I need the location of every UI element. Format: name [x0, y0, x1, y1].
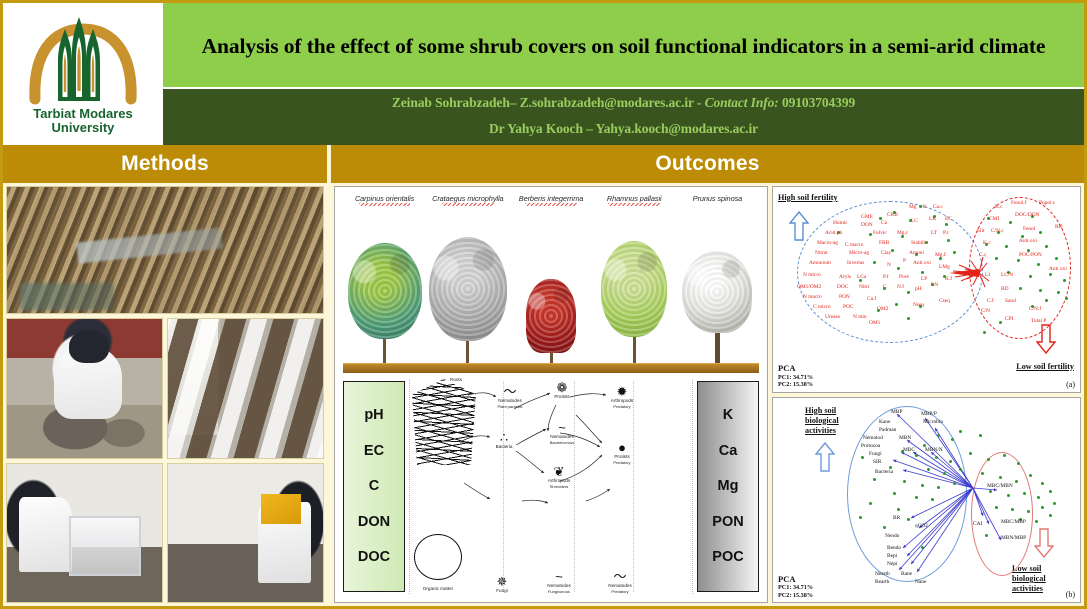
down-arrow-icon — [1034, 528, 1054, 558]
indicator-poc: POC — [712, 550, 743, 565]
author-line-supervisor: Dr Yahya Kooch – Yahya.kooch@modares.ac.… — [489, 121, 758, 137]
pca-b-lbl-fungi: Fungi — [869, 452, 882, 457]
pca-a-lbl-amoni: Amoni — [909, 251, 924, 256]
pca-a-lbl-antioxi2: Anti oxi — [1019, 239, 1037, 244]
shrub-illustration-2 — [509, 213, 592, 363]
nematode-plant-parasitic-icon: 〜 — [484, 385, 536, 398]
page-title: Analysis of the effect of some shrub cov… — [202, 32, 1046, 60]
left-indicator-box-wrap: pH EC C DON DOC — [343, 377, 405, 596]
pca-a-lbl-kc: K.c — [995, 205, 1003, 210]
soil-chemistry-indicator-box: pH EC C DON DOC — [343, 381, 405, 592]
pca-a-lbl-mg: Mg — [909, 205, 917, 210]
pca-a-lbl-lc: LC — [911, 219, 918, 224]
arthropod-shredder-icon: ❦ — [532, 465, 586, 478]
pca-a-lbl-antioxi: Anti oxi — [913, 261, 931, 266]
pca-a-lbl-amonium: Amonium — [809, 261, 831, 266]
species-label-0: Carpinus orientalis — [343, 194, 426, 206]
pca-a-lbl-kc2: K.c — [983, 241, 991, 246]
shrub-trunk-2 — [550, 353, 553, 363]
field-litter-photo — [6, 186, 324, 314]
organic-matter-icon — [414, 534, 462, 580]
pca-a-lbl-mgc: Mg.c — [897, 231, 908, 236]
pca-a-lbl-microag: Micro-ag — [849, 251, 869, 256]
shrub-crown-1 — [429, 237, 507, 341]
pca-a-lbl-nmacro: N macro — [803, 295, 822, 300]
pca-soil-fertility-panel: High soil fertility Low soil fertility — [772, 186, 1081, 393]
pca-a-lbl-nmin: N min — [853, 315, 867, 320]
pca-b-lbl-mbc: MBC — [903, 448, 915, 453]
fw-name-2: Arthropods — [611, 398, 633, 403]
fw-sub-0: Plant parasitic — [484, 404, 536, 409]
pca-a-lbl-invertas: Invertas — [847, 261, 864, 266]
up-arrow-icon — [789, 211, 809, 241]
pca-a-lbl-don: DON — [861, 223, 873, 228]
pca-b-lbl-mbn: MBN — [899, 436, 911, 441]
species-label-1: Crataegus microphylla — [426, 194, 509, 206]
shrub-illustration-0 — [343, 213, 426, 363]
food-web-label-8: Nematodes Fungivorous — [534, 583, 584, 594]
fungi-icon: ✵ — [480, 575, 524, 588]
contact-info-label: Contact Info: — [705, 95, 779, 110]
pca-a-lbl-silt: Silt — [977, 229, 985, 234]
outcomes-panel: Carpinus orientalis Crataegus microphyll… — [331, 183, 1084, 606]
pca-a-lbl-p: P — [903, 259, 906, 264]
spellcheck-underline-icon — [442, 203, 494, 206]
pca-a-high-label: High soil fertility — [778, 193, 838, 203]
pca-a-lbl-nitrat: Nitrat — [815, 251, 828, 256]
pca-a-lbl-frb: FRB — [879, 241, 889, 246]
soil-surface-bar — [343, 363, 759, 373]
pca-b-lbl-mbpp: MBP/P — [921, 412, 937, 417]
nematode-predatory-icon: 〜 — [594, 570, 646, 583]
arthropod-predatory-icon: ✹ — [596, 385, 648, 398]
bacteria-icon: ∴ — [476, 431, 532, 444]
methods-panel — [3, 183, 327, 606]
pca-a-lbl-om1om2: OM1/OM2 — [797, 285, 821, 290]
indicator-don: DON — [358, 515, 390, 530]
pca-a-lbl-cn: C/N — [981, 309, 990, 314]
pca-b-lbl-protozoa: Protozoa — [861, 444, 880, 449]
logo-svg — [17, 13, 149, 105]
food-web-label-4: Nematodes Bacterivorous — [536, 434, 588, 445]
pca-a-lbl-poc: POC — [843, 305, 854, 310]
shrub-illustration-row — [343, 213, 759, 363]
fw-sub-6: Predatory — [598, 460, 646, 465]
pca-a-lbl-lp: LP — [921, 277, 927, 282]
indicator-ph: pH — [364, 408, 383, 423]
pca-a-lbl-cac: Ca.c — [933, 205, 943, 210]
poster-root: Tarbiat Modares University Analysis of t… — [0, 0, 1087, 609]
methods-photo-row-1 — [6, 318, 324, 459]
food-web-label-6: Protists Predatory — [598, 454, 646, 465]
pca-b-lbl-bepi: Bepi — [887, 554, 897, 559]
university-logo: Tarbiat Modares University — [3, 3, 163, 145]
pca-b-lbl-mbnn: MBN/N — [925, 448, 943, 453]
pca-a-lbl-nf: N.f — [897, 285, 904, 290]
pca-a-lbl-ph: pH — [915, 287, 922, 292]
pca-b-lbl-bearth: Bearth — [875, 580, 889, 585]
shrub-trunk-3 — [633, 337, 636, 363]
nematode-fungivorous-icon: ~ — [534, 570, 584, 583]
pca-a-pc1: PC1: 34.71% — [778, 374, 813, 381]
pca-a-lbl-cf: C.f — [987, 299, 994, 304]
fw-name-9: Nematodes — [608, 583, 632, 588]
lab-analysis-photo — [167, 463, 324, 604]
species-label-2: Berberis integerrima — [509, 194, 592, 206]
pca-panels-column: High soil fertility Low soil fertility — [772, 186, 1081, 603]
indicator-c: C — [369, 479, 379, 494]
fw-name-8: Nematodes — [547, 583, 571, 588]
pca-a-lbl-kf: K.f — [945, 277, 952, 282]
food-web-label-7: Fungi — [480, 588, 524, 594]
fw-name-5: Arthropods — [548, 478, 570, 483]
pca-a-lbl-docdon: DOC/DON — [1015, 213, 1040, 218]
pca-a-lbl-ca: Ca — [881, 221, 887, 226]
pca-a-lbl-urease: Urease — [825, 315, 840, 320]
indicator-pon: PON — [712, 515, 743, 530]
pca-a-lbl-om2: OM2 — [877, 307, 888, 312]
food-web-canvas: Roots Organic matter 〜 Nematodes Plant p… — [409, 379, 693, 594]
fw-sub-5: Shredders — [532, 484, 586, 489]
pca-b-lbl-nearth: Nearth — [875, 572, 890, 577]
shrub-trunk-1 — [466, 341, 469, 363]
right-indicator-box-wrap: K Ca Mg PON POC — [697, 377, 759, 596]
pca-b-lbl-padman: Padman — [879, 428, 896, 433]
food-web-label-3: Bacteria — [476, 444, 532, 450]
pca-b-lbl-nematod: Nematod — [863, 436, 883, 441]
pca-b-pc2: PC2: 15.38% — [778, 592, 813, 599]
indicator-doc: DOC — [358, 550, 390, 565]
pca-a-low-label: Low soil fertility — [1016, 362, 1074, 372]
pca-b-lbl-sir: SIR — [873, 460, 881, 465]
pca-b-lbl-mbp: MBP — [891, 410, 902, 415]
section-header-methods: Methods — [3, 145, 327, 183]
pca-a-lbl-fenol: Fenol — [1023, 227, 1035, 232]
food-web-label-0: Nematodes Plant parasitic — [484, 398, 536, 409]
pca-b-lbl-br: BR — [893, 516, 900, 521]
soil-nutrient-indicator-box: K Ca Mg PON POC — [697, 381, 759, 592]
shrub-trunk-4 — [715, 333, 720, 363]
pca-a-lbl-cmicro: C micro — [813, 305, 831, 310]
food-web-label-organic-matter: Organic matter — [408, 586, 468, 592]
university-logo-icon — [17, 13, 149, 105]
author-primary-name: Zeinab Sohrabzadeh– Z.sohrabzadeh@modare… — [392, 95, 705, 110]
pca-a-lbl-cnc: C/N.c — [991, 229, 1004, 234]
fw-sub-9: Predatory — [594, 589, 646, 594]
up-arrow-icon — [815, 442, 835, 472]
methods-photo-row-2 — [6, 463, 324, 604]
poster-body: Carpinus orientalis Crataegus microphyll… — [3, 183, 1084, 606]
pca-plot-b: High soil biological activities Low soil… — [773, 398, 1080, 603]
pca-a-lbl-k: K — [923, 205, 927, 210]
contact-info-value: 09103704399 — [779, 95, 855, 110]
pca-b-lbl-nepi: Nepi — [887, 562, 897, 567]
indicator-ec: EC — [364, 444, 384, 459]
pca-a-lbl-cnf: C/N.f — [1029, 307, 1041, 312]
pca-a-lbl-humic: Humic — [833, 221, 848, 226]
pca-a-panel-tag: (a) — [1066, 380, 1075, 389]
root-system-icon — [412, 379, 476, 465]
pca-a-lbl-acidph: Acid.ph — [825, 231, 842, 236]
food-web-label-2: Arthropods Predatory — [596, 398, 648, 409]
pca-b-lbl-bacteria: Bacteria — [875, 470, 893, 475]
pca-a-pc2: PC2: 15.38% — [778, 381, 813, 388]
pca-a-lbl-pon: PON — [839, 295, 850, 300]
pca-a-lbl-nseq: Nseq — [913, 303, 924, 308]
fw-sub-4: Bacterivorous — [536, 440, 588, 445]
spellcheck-underline-icon — [525, 203, 577, 206]
species-label-3: Rhamnus pallasii — [593, 194, 676, 206]
food-web-label-9: Nematodes Predatory — [594, 583, 646, 594]
shrub-illustration-4 — [676, 213, 759, 363]
shrub-crown-0 — [348, 243, 422, 339]
pca-b-lbl-bane: Bane — [901, 572, 912, 577]
indicator-k: K — [723, 408, 733, 423]
pca-a-lbl-cmacro: C macro — [845, 243, 863, 248]
shrub-crown-4 — [682, 251, 752, 333]
shrub-crown-3 — [601, 241, 667, 337]
fw-name-6: Protists — [614, 454, 629, 459]
pca-b-panel-tag: (b) — [1066, 590, 1075, 599]
pca-b-lbl-nendo: Nendo — [885, 534, 899, 539]
pca-b-lbl-kane: Kane — [879, 420, 890, 425]
pca-biological-activity-panel: High soil biological activities Low soil… — [772, 397, 1081, 604]
pca-a-lbl-aryls: Aryls — [839, 275, 851, 280]
section-header-outcomes: Outcomes — [331, 145, 1084, 183]
indicator-ca: Ca — [719, 444, 738, 459]
pca-a-lbl-pc: P.c — [943, 231, 949, 236]
food-web-label-1: Protists — [540, 394, 584, 400]
species-text-0: Carpinus orientalis — [355, 194, 414, 203]
pca-a-lbl-caf: Ca.f — [867, 297, 876, 302]
species-name-row: Carpinus orientalis Crataegus microphyll… — [335, 194, 767, 206]
pca-b-lbl-qco2: qCO2 — [915, 524, 928, 529]
balance-weighing-photo — [6, 463, 163, 604]
protist-icon: ❁ — [540, 381, 584, 394]
pca-a-lbl-sand: Sand — [1005, 299, 1016, 304]
pca-a-lbl-lmg: LMg — [939, 265, 950, 270]
conceptual-diagram-panel: Carpinus orientalis Crataegus microphyll… — [334, 186, 768, 603]
food-web-label-5: Arthropods Shredders — [532, 478, 586, 489]
spellcheck-underline-icon — [359, 203, 411, 206]
poster-header: Tarbiat Modares University Analysis of t… — [3, 3, 1084, 145]
soil-sieving-photo — [6, 318, 163, 459]
pca-plot-a: High soil fertility Low soil fertility — [773, 187, 1080, 392]
fw-name-4: Nematodes — [550, 434, 574, 439]
pca-b-low-ellipse — [971, 452, 1033, 576]
pca-b-pc1: PC1: 34.71% — [778, 584, 813, 591]
pca-b-lbl-microbia: Microbia — [923, 420, 943, 425]
pca-a-lbl-lt: LT — [931, 231, 937, 236]
pca-b-lbl-mbcmbp: MBC/MBP — [1001, 520, 1026, 525]
section-bars: Methods Outcomes — [3, 145, 1084, 183]
pca-a-lbl-totalp: Total P — [1031, 319, 1046, 324]
pca-a-lbl-crb: CRB — [887, 213, 898, 218]
pca-a-lbl-om1: OM1 — [869, 321, 880, 326]
pca-b-lbl-mbnmbp: MBN/MBP — [1001, 536, 1026, 541]
pca-a-lbl-gme: GME — [861, 215, 873, 220]
indicator-mg: Mg — [718, 479, 739, 494]
pca-a-lbl-fulvic: Fulvic — [873, 231, 887, 236]
shrub-illustration-1 — [426, 213, 509, 363]
pca-a-lbl-li: LI — [985, 273, 990, 278]
nematode-bacterivorous-icon: ~ — [536, 421, 588, 434]
protist-predatory-icon: ● — [598, 441, 646, 454]
author-line-primary: Zeinab Sohrabzadeh– Z.sohrabzadeh@modare… — [392, 95, 855, 111]
pca-a-lbl-doc: DOC — [837, 285, 848, 290]
pca-b-lbl-bendo: Bendo — [887, 546, 901, 551]
pca-b-lbl-mbcmbn: MBC/MBN — [987, 484, 1013, 489]
pca-b-high-label: High soil biological activities — [805, 406, 871, 436]
pca-a-lbl-nitri: Nitri — [859, 285, 869, 290]
pca-b-caption-title: PCA — [778, 574, 813, 584]
species-text-4: Prunus spinosa — [693, 194, 743, 203]
pca-b-caption: PCA PC1: 34.71% PC2: 15.38% — [778, 574, 813, 599]
pca-b-lbl-nane: Nane — [915, 580, 926, 585]
pca-b-lbl-cai: CAI — [973, 522, 982, 527]
pca-a-lbl-stabilit: Stabilit — [911, 241, 927, 246]
shrub-trunk-0 — [383, 339, 386, 363]
header-text-block: Analysis of the effect of some shrub cov… — [163, 3, 1084, 145]
pca-a-caption: PCA PC1: 34.71% PC2: 15.38% — [778, 363, 813, 388]
pca-a-lbl-pf: P.f — [883, 275, 889, 280]
pca-a-lbl-macroag: Macro-ag — [817, 241, 838, 246]
soil-food-web-diagram: pH EC C DON DOC Roots — [343, 377, 759, 596]
pca-a-lbl-clay: Clay — [881, 251, 891, 256]
food-web-label-roots: Roots — [450, 377, 462, 383]
pca-a-lbl-bd: BD — [1001, 287, 1009, 292]
pca-a-lbl-mgf: Mg.f — [935, 253, 946, 258]
shrub-illustration-3 — [593, 213, 676, 363]
title-band: Analysis of the effect of some shrub cov… — [163, 3, 1084, 87]
shrub-crown-2 — [526, 279, 576, 353]
pca-a-lbl-n: N — [887, 263, 891, 268]
pca-a-caption-title: PCA — [778, 363, 813, 373]
pca-a-lbl-lca: LCa — [857, 275, 866, 280]
university-name-line2: University — [52, 120, 115, 135]
pca-a-lbl-c: C — [883, 285, 887, 290]
spellcheck-underline-icon — [608, 203, 660, 206]
pca-a-lbl-pupolc: Pupol.c — [1039, 201, 1055, 206]
pca-a-lbl-lk: LK — [929, 217, 936, 222]
pca-a-lbl-nmicro: N micro — [803, 273, 821, 278]
species-text-1: Crataegus microphylla — [432, 194, 503, 203]
pca-a-lbl-fenolf: Fenol.f — [1011, 201, 1026, 206]
pca-b-high-ellipse — [847, 406, 967, 582]
species-text-3: Rhamnus pallasii — [607, 194, 662, 203]
pca-a-lbl-cc: C.c — [979, 253, 986, 258]
pca-a-lbl-lcn: LC/N — [1001, 273, 1013, 278]
pca-a-lbl-ec: EC — [945, 217, 952, 222]
pca-a-lbl-antioxi3: Anti oxi — [1049, 267, 1067, 272]
pca-a-lbl-pore: Pore — [899, 275, 909, 280]
pca-a-lbl-cpi: CPI — [1005, 317, 1013, 322]
fw-name-0: Nematodes — [498, 398, 522, 403]
university-name: Tarbiat Modares University — [33, 107, 132, 134]
fw-sub-2: Predatory — [596, 404, 648, 409]
pca-a-lbl-pocpon: POC/PON — [1019, 253, 1042, 258]
species-text-2: Berberis integerrima — [519, 194, 584, 203]
pca-a-lbl-rd: RD — [1055, 225, 1063, 230]
pca-a-lbl-ln: LN — [931, 283, 938, 288]
species-label-4: Prunus spinosa — [676, 194, 759, 206]
pca-a-lbl-cseq: Cseq — [939, 299, 950, 304]
soil-drying-trays-photo — [167, 318, 324, 459]
pca-a-lbl-cmi: CMI — [989, 217, 999, 222]
authors-band: Zeinab Sohrabzadeh– Z.sohrabzadeh@modare… — [163, 87, 1084, 145]
pca-a-high-ellipse — [797, 201, 983, 343]
fw-sub-8: Fungivorous — [534, 589, 584, 594]
